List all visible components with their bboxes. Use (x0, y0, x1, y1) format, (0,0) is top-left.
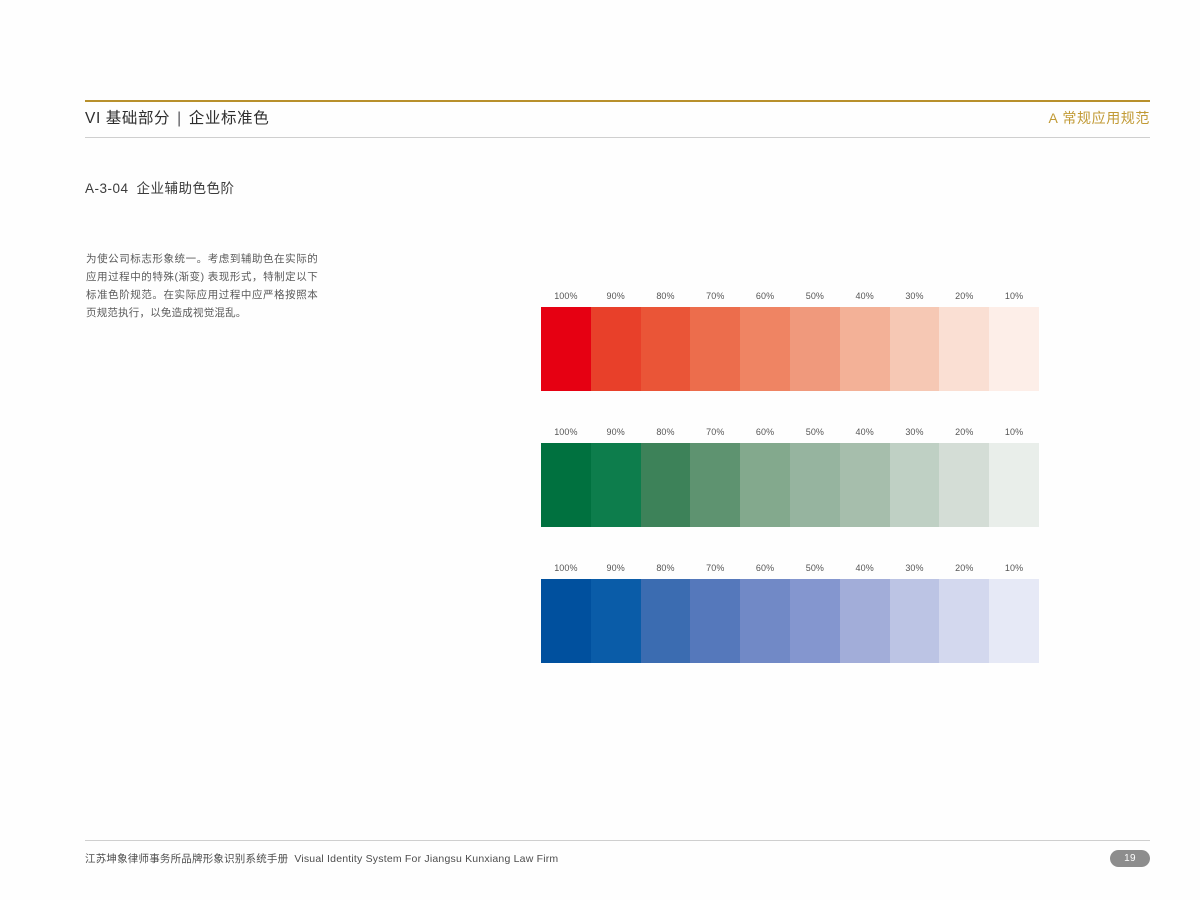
color-swatch (790, 307, 840, 391)
color-swatch (740, 443, 790, 527)
percent-label: 90% (591, 421, 641, 443)
header-chapter-label: VI 基础部分 (85, 110, 170, 127)
percent-label: 70% (690, 285, 740, 307)
color-swatch (690, 579, 740, 663)
header-section-tag: A常规应用规范 (1048, 108, 1150, 128)
color-swatch (740, 307, 790, 391)
color-swatch (690, 307, 740, 391)
percent-label: 50% (790, 557, 840, 579)
page-title: A-3-04企业辅助色色阶 (85, 177, 235, 197)
color-scale-panel: 100% 90% 80% 70% 60% 50% 40% 30% 20% 10% (541, 285, 1039, 693)
percent-label: 10% (989, 421, 1039, 443)
color-swatch (690, 443, 740, 527)
color-swatch (840, 579, 890, 663)
red-scale-bar (541, 307, 1039, 391)
percent-label: 30% (890, 285, 940, 307)
percent-label: 30% (890, 557, 940, 579)
percent-label: 50% (790, 421, 840, 443)
percent-label: 20% (939, 557, 989, 579)
percent-label: 70% (690, 421, 740, 443)
color-swatch (641, 443, 691, 527)
percent-label: 80% (641, 285, 691, 307)
color-swatch (939, 579, 989, 663)
color-swatch (541, 579, 591, 663)
color-swatch (541, 443, 591, 527)
blue-scale-labels: 100% 90% 80% 70% 60% 50% 40% 30% 20% 10% (541, 557, 1039, 579)
color-swatch (939, 443, 989, 527)
color-swatch (939, 307, 989, 391)
red-scale-group: 100% 90% 80% 70% 60% 50% 40% 30% 20% 10% (541, 285, 1039, 391)
red-scale-labels: 100% 90% 80% 70% 60% 50% 40% 30% 20% 10% (541, 285, 1039, 307)
header-section-mark: A (1048, 110, 1058, 126)
header-row: VI 基础部分|企业标准色 A常规应用规范 (85, 102, 1150, 136)
blue-scale-bar (541, 579, 1039, 663)
color-swatch (591, 579, 641, 663)
color-swatch (989, 307, 1039, 391)
percent-label: 40% (840, 557, 890, 579)
blue-scale-group: 100% 90% 80% 70% 60% 50% 40% 30% 20% 10% (541, 557, 1039, 663)
header-breadcrumb: VI 基础部分|企业标准色 (85, 106, 269, 128)
percent-label: 100% (541, 285, 591, 307)
color-swatch (740, 579, 790, 663)
header-gray-rule (85, 137, 1150, 138)
percent-label: 40% (840, 285, 890, 307)
color-swatch (790, 579, 840, 663)
section-code: A-3-04 (85, 181, 129, 196)
percent-label: 60% (740, 285, 790, 307)
percent-label: 10% (989, 557, 1039, 579)
color-swatch (641, 307, 691, 391)
header-separator: | (170, 110, 189, 128)
header-topic-label: 企业标准色 (189, 110, 270, 127)
percent-label: 30% (890, 421, 940, 443)
page-footer: 江苏坤象律师事务所品牌形象识别系统手册Visual Identity Syste… (85, 840, 1150, 867)
percent-label: 50% (790, 285, 840, 307)
color-swatch (840, 307, 890, 391)
color-swatch (890, 307, 940, 391)
document-page: VI 基础部分|企业标准色 A常规应用规范 A-3-04企业辅助色色阶 为使公司… (0, 0, 1200, 900)
percent-label: 100% (541, 557, 591, 579)
percent-label: 70% (690, 557, 740, 579)
percent-label: 40% (840, 421, 890, 443)
percent-label: 90% (591, 557, 641, 579)
percent-label: 90% (591, 285, 641, 307)
green-scale-bar (541, 443, 1039, 527)
color-swatch (890, 579, 940, 663)
percent-label: 20% (939, 421, 989, 443)
percent-label: 80% (641, 557, 691, 579)
percent-label: 80% (641, 421, 691, 443)
green-scale-labels: 100% 90% 80% 70% 60% 50% 40% 30% 20% 10% (541, 421, 1039, 443)
footer-caption-cn: 江苏坤象律师事务所品牌形象识别系统手册 (85, 853, 288, 865)
footer-caption: 江苏坤象律师事务所品牌形象识别系统手册Visual Identity Syste… (85, 851, 558, 866)
percent-label: 100% (541, 421, 591, 443)
page-header: VI 基础部分|企业标准色 A常规应用规范 (85, 100, 1150, 138)
color-swatch (790, 443, 840, 527)
color-swatch (840, 443, 890, 527)
color-swatch (541, 307, 591, 391)
header-section-label: 常规应用规范 (1062, 110, 1150, 126)
color-swatch (591, 307, 641, 391)
page-number-badge: 19 (1110, 850, 1150, 867)
green-scale-group: 100% 90% 80% 70% 60% 50% 40% 30% 20% 10% (541, 421, 1039, 527)
footer-caption-en: Visual Identity System For Jiangsu Kunxi… (294, 853, 558, 865)
percent-label: 10% (989, 285, 1039, 307)
description-paragraph: 为使公司标志形象统一。考虑到辅助色在实际的应用过程中的特殊(渐变) 表现形式，特… (86, 250, 318, 322)
color-swatch (890, 443, 940, 527)
color-swatch (989, 579, 1039, 663)
percent-label: 60% (740, 421, 790, 443)
percent-label: 60% (740, 557, 790, 579)
color-swatch (591, 443, 641, 527)
footer-row: 江苏坤象律师事务所品牌形象识别系统手册Visual Identity Syste… (85, 841, 1150, 867)
section-title-label: 企业辅助色色阶 (137, 181, 235, 196)
color-swatch (641, 579, 691, 663)
color-swatch (989, 443, 1039, 527)
percent-label: 20% (939, 285, 989, 307)
